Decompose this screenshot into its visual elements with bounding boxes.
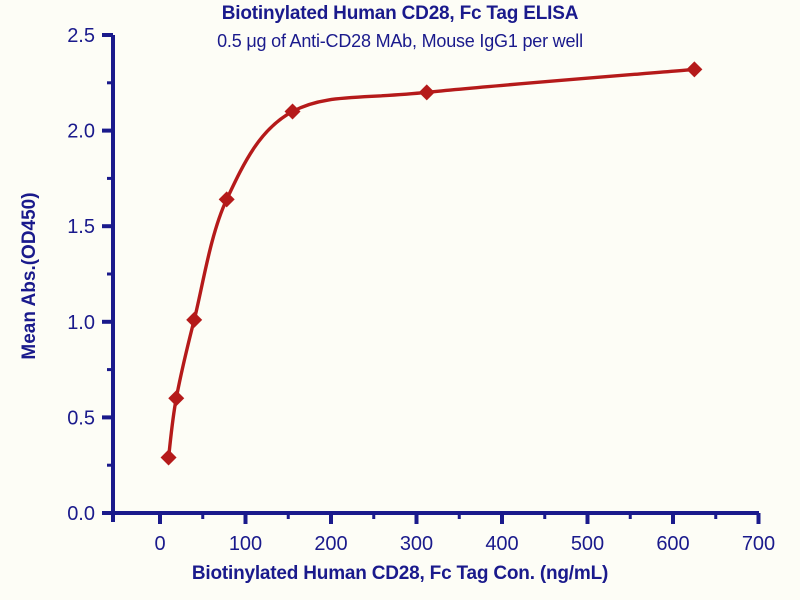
data-point-marker [186, 312, 202, 328]
data-point-marker [285, 103, 301, 119]
x-tick-label: 700 [742, 533, 775, 555]
x-tick-label: 0 [154, 533, 165, 555]
x-tick-label: 100 [229, 533, 262, 555]
x-tick-label: 600 [656, 533, 689, 555]
y-tick-label: 2.0 [67, 121, 95, 143]
data-point-marker [168, 390, 184, 406]
x-tick-label: 500 [571, 533, 604, 555]
x-tick-label: 400 [485, 533, 518, 555]
x-tick-label: 200 [314, 533, 347, 555]
data-point-marker [686, 61, 702, 77]
y-tick-label: 1.0 [67, 312, 95, 334]
y-tick-label: 1.5 [67, 216, 95, 238]
plot-area: 0.00.51.01.52.02.50100200300400500600700 [0, 0, 800, 600]
x-tick-label: 300 [400, 533, 433, 555]
fit-curve [169, 69, 695, 457]
data-point-marker [161, 450, 177, 466]
elisa-chart: Biotinylated Human CD28, Fc Tag ELISA 0.… [0, 0, 800, 600]
y-tick-label: 2.5 [67, 25, 95, 47]
y-tick-label: 0.0 [67, 503, 95, 525]
y-tick-label: 0.5 [67, 407, 95, 429]
data-point-marker [419, 84, 435, 100]
data-point-marker [219, 191, 235, 207]
